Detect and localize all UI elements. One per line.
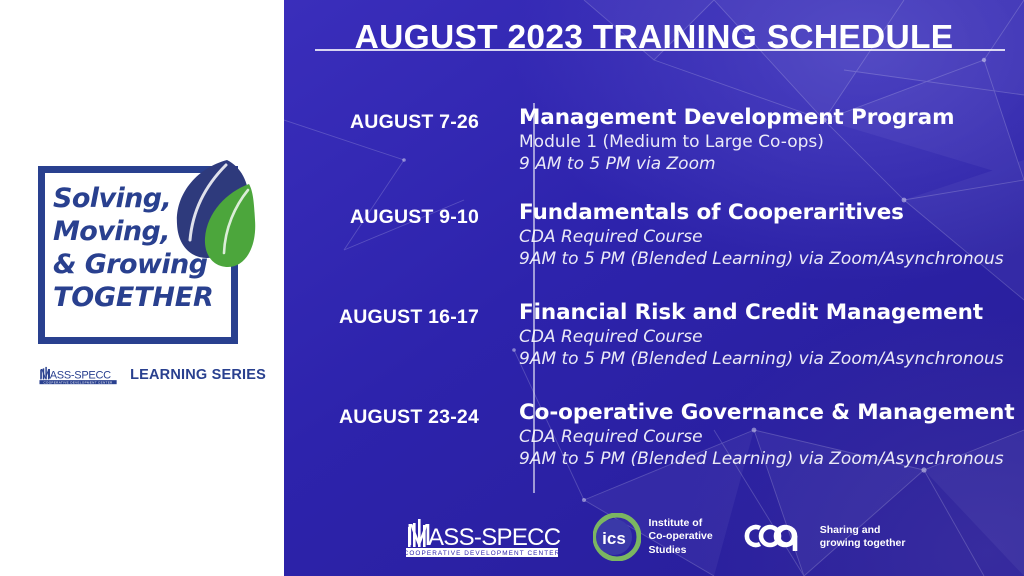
schedule-row-subtitle: CDA Required Course <box>519 226 1024 248</box>
coop-line-2: growing together <box>820 537 906 550</box>
schedule-row-date: AUGUST 9-10 <box>284 200 506 270</box>
schedule-row-subtitle: CDA Required Course <box>519 326 1024 348</box>
coop-footer-text: Sharing and growing together <box>820 524 906 550</box>
masspecc-subtitle: COOPERATIVE DEVELOPMENT CENTER <box>44 380 114 384</box>
ics-circle-icon: ics <box>593 513 641 561</box>
ics-line-1: Institute of <box>649 517 713 531</box>
masspecc-footer-logo-icon: M ASS-SPECC COOPERATIVE DEVELOPMENT CENT… <box>403 513 565 561</box>
ics-line-3: Studies <box>649 544 713 558</box>
footer-masspecc-subtitle: COOPERATIVE DEVELOPMENT CENTER <box>403 550 560 557</box>
ics-line-2: Co-operative <box>649 530 713 544</box>
schedule-panel: AUGUST 2023 TRAINING SCHEDULE AUGUST 7-2… <box>284 0 1024 576</box>
coop-line-1: Sharing and <box>820 524 906 537</box>
coop-footer-logo: Sharing and growing together <box>741 520 906 554</box>
schedule-row-time: 9AM to 5 PM (Blended Learning) via Zoom/… <box>519 348 1024 370</box>
schedule-list: AUGUST 7-26 Management Development Progr… <box>284 97 1024 493</box>
schedule-row-title: Fundamentals of Cooperaritives <box>519 200 1024 226</box>
footer-logo-strip: M ASS-SPECC COOPERATIVE DEVELOPMENT CENT… <box>284 508 1024 566</box>
ics-footer-logo: ics Institute of Co-operative Studies <box>593 513 713 561</box>
masspecc-logo-icon: M ASS-SPECC COOPERATIVE DEVELOPMENT CENT… <box>38 361 121 389</box>
schedule-row: AUGUST 16-17 Financial Risk and Credit M… <box>284 300 1024 370</box>
masspecc-learning-series-lockup: M ASS-SPECC COOPERATIVE DEVELOPMENT CENT… <box>38 360 266 390</box>
footer-masspecc-rest: ASS-SPECC <box>428 524 561 551</box>
tagline-line-4: TOGETHER <box>53 281 229 314</box>
learning-series-label: LEARNING SERIES <box>130 367 266 383</box>
page-title: AUGUST 2023 TRAINING SCHEDULE <box>284 19 1024 57</box>
schedule-row-subtitle: Module 1 (Medium to Large Co-ops) <box>519 131 1024 153</box>
schedule-row-title: Co-operative Governance & Management <box>519 400 1024 426</box>
schedule-row-date: AUGUST 7-26 <box>284 105 506 175</box>
title-wrap: AUGUST 2023 TRAINING SCHEDULE <box>284 19 1024 57</box>
schedule-row-date: AUGUST 16-17 <box>284 300 506 370</box>
schedule-row-time: 9AM to 5 PM (Blended Learning) via Zoom/… <box>519 448 1024 470</box>
schedule-row-time: 9AM to 5 PM (Blended Learning) via Zoom/… <box>519 248 1024 270</box>
schedule-row-body: Co-operative Governance & Management CDA… <box>506 400 1024 470</box>
ics-monogram: ics <box>602 529 626 548</box>
title-underline-rule <box>315 49 1005 51</box>
schedule-row: AUGUST 9-10 Fundamentals of Cooperaritiv… <box>284 200 1024 270</box>
coop-wordmark-icon <box>741 520 811 554</box>
schedule-row-body: Management Development Program Module 1 … <box>506 105 1024 175</box>
schedule-row-body: Fundamentals of Cooperaritives CDA Requi… <box>506 200 1024 270</box>
poster-canvas: Solving, Moving, & Growing TOGETHER <box>0 0 1024 576</box>
schedule-row: AUGUST 7-26 Management Development Progr… <box>284 105 1024 175</box>
left-branding-panel: Solving, Moving, & Growing TOGETHER <box>0 0 284 576</box>
schedule-row-subtitle: CDA Required Course <box>519 426 1024 448</box>
masspecc-name-prefix: M <box>39 366 50 382</box>
schedule-row-title: Management Development Program <box>519 105 1024 131</box>
schedule-row-body: Financial Risk and Credit Management CDA… <box>506 300 1024 370</box>
ics-footer-text: Institute of Co-operative Studies <box>649 517 713 558</box>
two-leaves-icon <box>157 154 265 270</box>
schedule-row-date: AUGUST 23-24 <box>284 400 506 470</box>
schedule-row-title: Financial Risk and Credit Management <box>519 300 1024 326</box>
logo-frame-wrap: Solving, Moving, & Growing TOGETHER <box>31 160 259 358</box>
schedule-row: AUGUST 23-24 Co-operative Governance & M… <box>284 400 1024 470</box>
learning-series-logo: Solving, Moving, & Growing TOGETHER <box>31 160 259 358</box>
schedule-row-time: 9 AM to 5 PM via Zoom <box>519 153 1024 175</box>
